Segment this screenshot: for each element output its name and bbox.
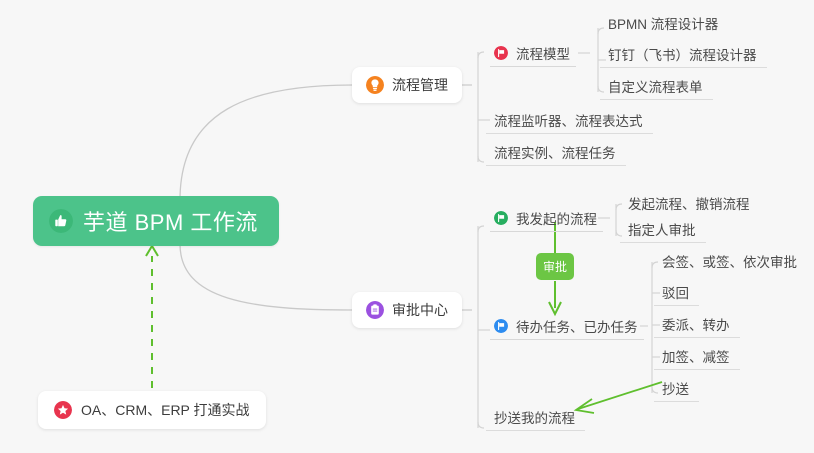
leaf-dingtalk-designer[interactable]: 钉钉（飞书）流程设计器 bbox=[600, 41, 767, 68]
branch-process-management-label: 流程管理 bbox=[392, 75, 448, 95]
leaf-assignee-approval[interactable]: 指定人审批 bbox=[620, 216, 706, 243]
lightbulb-icon bbox=[366, 76, 384, 94]
leaf-cc-label: 抄送 bbox=[662, 378, 689, 398]
leaf-countersign-label: 会签、或签、依次审批 bbox=[662, 251, 797, 271]
leaf-process-listener-label: 流程监听器、流程表达式 bbox=[494, 110, 643, 130]
node-my-initiated-flow[interactable]: 我发起的流程 bbox=[490, 204, 603, 232]
leaf-process-instance-label: 流程实例、流程任务 bbox=[494, 142, 616, 162]
leaf-add-remove-sign-label: 加签、减签 bbox=[662, 346, 730, 366]
link-pm-corner-bottom bbox=[478, 156, 484, 162]
flag-icon bbox=[494, 211, 508, 225]
leaf-start-cancel-flow-label: 发起流程、撤销流程 bbox=[628, 193, 750, 213]
callout-integration-label: OA、CRM、ERP 打通实战 bbox=[81, 400, 250, 420]
leaf-assignee-approval-label: 指定人审批 bbox=[628, 219, 696, 239]
approval-tag: 审批 bbox=[536, 253, 574, 280]
branch-approval-center[interactable]: 审批中心 bbox=[352, 292, 462, 328]
node-todo-done-tasks-label: 待办任务、已办任务 bbox=[516, 316, 638, 336]
approval-tag-label: 审批 bbox=[543, 258, 567, 275]
arrow-cc-to-ccflow bbox=[578, 382, 662, 409]
leaf-countersign[interactable]: 会签、或签、依次审批 bbox=[654, 247, 807, 274]
link-root-to-process-management bbox=[180, 85, 352, 200]
leaf-process-instance[interactable]: 流程实例、流程任务 bbox=[486, 139, 626, 166]
leaf-delegate-transfer-label: 委派、转办 bbox=[662, 314, 730, 334]
node-todo-done-tasks[interactable]: 待办任务、已办任务 bbox=[490, 312, 644, 340]
flag-icon bbox=[494, 319, 508, 333]
node-my-initiated-flow-label: 我发起的流程 bbox=[516, 208, 597, 228]
leaf-cc-to-me-flow[interactable]: 抄送我的流程 bbox=[486, 404, 585, 431]
root-label: 芋道 BPM 工作流 bbox=[83, 205, 258, 237]
leaf-dingtalk-designer-label: 钉钉（飞书）流程设计器 bbox=[608, 44, 757, 64]
leaf-cc[interactable]: 抄送 bbox=[654, 375, 699, 402]
mindmap-canvas: 芋道 BPM 工作流 流程管理 流程模型 BPMN 流程设计器 钉钉（飞书）流程… bbox=[0, 0, 814, 453]
link-ac-corner-bottom bbox=[478, 422, 484, 428]
branch-approval-center-label: 审批中心 bbox=[392, 300, 448, 320]
star-icon bbox=[54, 401, 72, 419]
clipboard-icon bbox=[366, 301, 384, 319]
thumbs-up-icon bbox=[49, 209, 73, 233]
node-process-model[interactable]: 流程模型 bbox=[490, 39, 576, 67]
node-process-model-label: 流程模型 bbox=[516, 43, 570, 63]
leaf-bpmn-designer[interactable]: BPMN 流程设计器 bbox=[600, 9, 728, 36]
link-pm-corner-top bbox=[478, 52, 484, 58]
arrow-callout-to-root-head bbox=[146, 246, 158, 256]
flag-icon bbox=[494, 46, 508, 60]
leaf-custom-form-label: 自定义流程表单 bbox=[608, 76, 703, 96]
leaf-bpmn-designer-label: BPMN 流程设计器 bbox=[608, 13, 718, 33]
leaf-custom-form[interactable]: 自定义流程表单 bbox=[600, 73, 713, 100]
link-ac-corner-top bbox=[478, 226, 484, 232]
leaf-start-cancel-flow[interactable]: 发起流程、撤销流程 bbox=[620, 189, 760, 216]
leaf-cc-to-me-flow-label: 抄送我的流程 bbox=[494, 407, 575, 427]
callout-integration-node[interactable]: OA、CRM、ERP 打通实战 bbox=[38, 391, 266, 429]
leaf-reject[interactable]: 驳回 bbox=[654, 279, 699, 306]
link-root-to-approval-center bbox=[180, 244, 352, 310]
leaf-process-listener[interactable]: 流程监听器、流程表达式 bbox=[486, 107, 653, 134]
leaf-reject-label: 驳回 bbox=[662, 282, 689, 302]
leaf-add-remove-sign[interactable]: 加签、减签 bbox=[654, 343, 740, 370]
leaf-delegate-transfer[interactable]: 委派、转办 bbox=[654, 311, 740, 338]
root-node[interactable]: 芋道 BPM 工作流 bbox=[33, 196, 279, 246]
branch-process-management[interactable]: 流程管理 bbox=[352, 67, 462, 103]
